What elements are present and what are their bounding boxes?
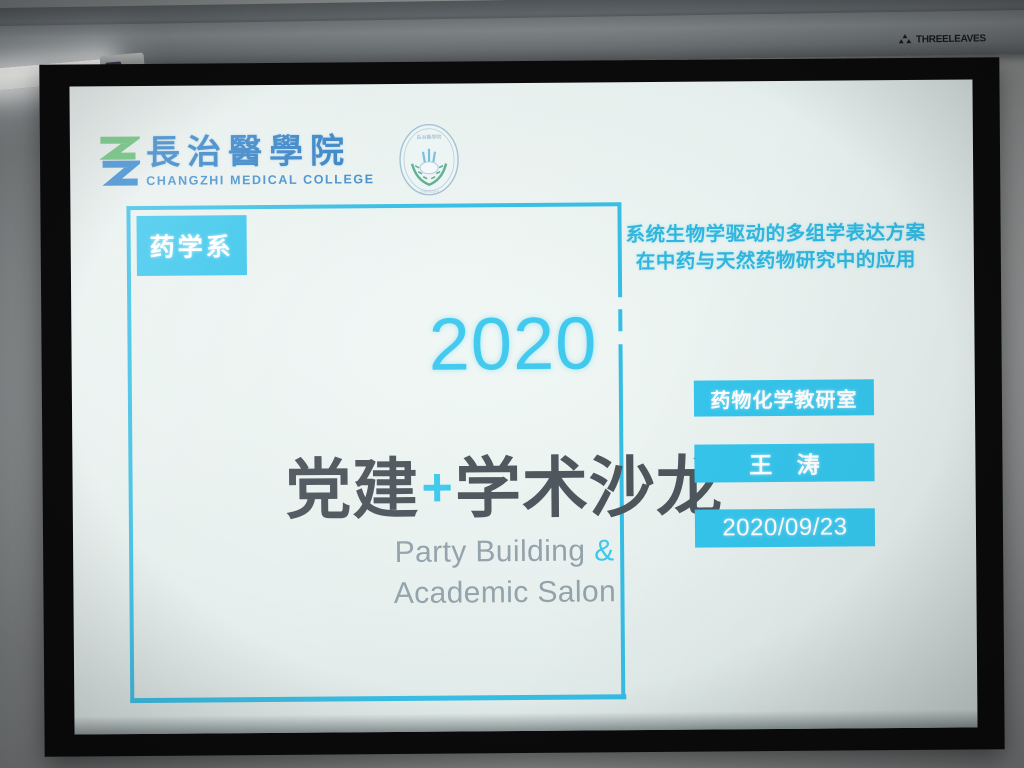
department-badge-label: 药学系 xyxy=(150,227,234,264)
projector-brand-mark: THREELEAVES xyxy=(898,32,986,45)
frame-border-bottom xyxy=(130,694,626,703)
title-part-right: 学术沙龙 xyxy=(455,449,724,525)
presentation-slide: 長治醫學院 CHANGZHI MEDICAL COLLEGE 長治醫學院 CHA… xyxy=(69,79,977,734)
date-label: 2020/09/23 xyxy=(722,513,847,542)
institution-name-en: CHANGZHI MEDICAL COLLEGE xyxy=(146,172,375,188)
frame-border-top xyxy=(126,202,618,210)
subtitle-ampersand: & xyxy=(594,534,615,567)
projection-screen-frame: 長治醫學院 CHANGZHI MEDICAL COLLEGE 長治醫學院 CHA… xyxy=(39,57,1004,757)
info-box-teaching-office: 药物化学教研室 xyxy=(694,379,874,416)
dna-helix-logo-icon xyxy=(98,134,140,190)
institution-name-cn: 長治醫學院 xyxy=(146,134,375,171)
topic-line-1: 系统生物学驱动的多组学表达方案 xyxy=(601,220,951,250)
institution-header: 長治醫學院 CHANGZHI MEDICAL COLLEGE 長治醫學院 CHA… xyxy=(98,121,463,200)
title-part-left: 党建 xyxy=(285,452,420,527)
svg-text:CHANGZHI: CHANGZHI xyxy=(420,190,439,194)
topic-line-2: 在中药与天然药物研究中的应用 xyxy=(601,247,951,277)
room-background: THREELEAVES 長治醫學院 CHANGZHI MEDICAL COLLE… xyxy=(0,0,1024,768)
topic-heading: 系统生物学驱动的多组学表达方案 在中药与天然药物研究中的应用 xyxy=(601,220,951,277)
projection-screen-surface: 長治醫學院 CHANGZHI MEDICAL COLLEGE 長治醫學院 CHA… xyxy=(69,79,977,734)
subtitle-line-1-text: Party Building xyxy=(395,534,595,569)
title-plus-symbol: + xyxy=(419,458,455,518)
presenter-label: 王 涛 xyxy=(740,446,829,481)
institution-name-block: 長治醫學院 CHANGZHI MEDICAL COLLEGE xyxy=(146,134,375,187)
projector-brand-label: THREELEAVES xyxy=(916,33,986,45)
subtitle-line-2: Academic Salon xyxy=(73,569,936,617)
three-leaves-logo-icon xyxy=(898,33,912,45)
college-seal-emblem-icon: 長治醫學院 CHANGZHI xyxy=(396,121,463,198)
info-box-presenter: 王 涛 xyxy=(694,443,874,482)
department-badge: 药学系 xyxy=(136,215,246,276)
info-box-date: 2020/09/23 xyxy=(695,508,875,547)
teaching-office-label: 药物化学教研室 xyxy=(710,383,857,413)
year-value: 2020 xyxy=(428,301,597,385)
year-display: 2020 xyxy=(71,297,975,389)
